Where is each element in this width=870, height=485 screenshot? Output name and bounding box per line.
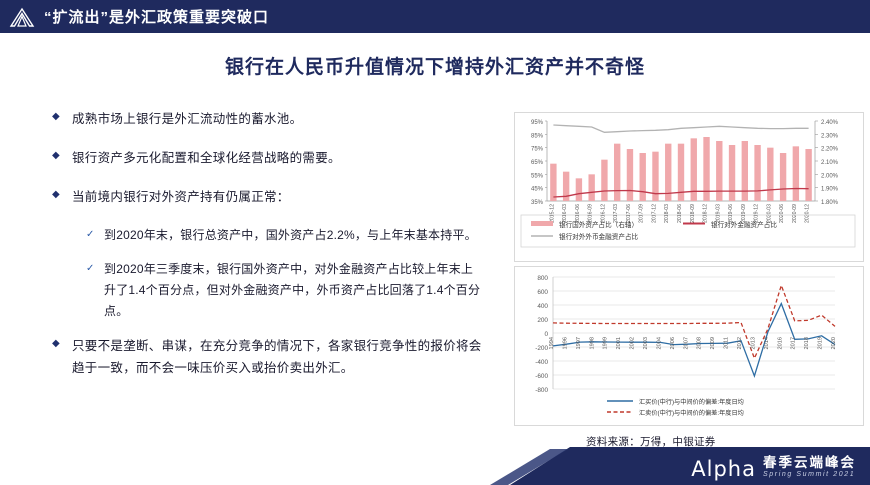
axis-label: -800 — [535, 387, 548, 394]
axis-label: 45% — [531, 187, 544, 193]
axis-label: 2018-09 — [690, 204, 696, 223]
bar — [588, 174, 594, 201]
axis-label: 600 — [537, 289, 548, 296]
axis-label: 2008 — [697, 337, 703, 349]
chart-2-canvas: -800-600-400-200020040060080019941996199… — [515, 267, 861, 423]
axis-label: 银行对外金融资产占比 — [711, 220, 777, 229]
axis-label: 2016-03 — [562, 204, 568, 223]
axis-label: 2009 — [710, 337, 716, 349]
legend-swatch — [531, 221, 553, 226]
header-bar: “扩流出”是外汇政策重要突破口 — [0, 0, 870, 33]
axis-label: 2.20% — [821, 147, 839, 153]
axis-label: 2018 — [804, 337, 810, 349]
axis-label: 2018-12 — [703, 204, 709, 223]
axis-label: 85% — [531, 133, 544, 139]
axis-label: 银行国外资产占比（右轴） — [559, 220, 638, 229]
bar — [729, 145, 735, 201]
axis-label: 65% — [531, 160, 544, 166]
axis-label: 2020-06 — [779, 204, 785, 223]
axis-label: 2016 — [777, 337, 783, 349]
axis-label: 2016-12 — [600, 204, 606, 223]
list-item: ◆ 银行资产多元化配置和全球化经营战略的需要。 — [52, 147, 482, 169]
axis-label: 0 — [544, 331, 548, 338]
list-item: ◆ 当前境内银行对外资产持有仍属正常： — [52, 186, 482, 208]
axis-label: 1996 — [562, 337, 568, 349]
triangle-mountain-icon — [0, 7, 44, 27]
axis-label: 2020-12 — [805, 204, 811, 223]
axis-label: 2013 — [750, 337, 756, 349]
alpha-wordmark: Alpha — [691, 459, 756, 480]
axis-label: 35% — [531, 200, 544, 206]
axis-label: 2019-03 — [715, 204, 721, 223]
check-bullet-icon: ✓ — [86, 259, 104, 278]
list-item: ✓ 到2020年末，银行总资产中，国外资产占2.2%，与上年末基本持平。 — [86, 225, 482, 246]
diamond-bullet-icon: ◆ — [52, 108, 72, 125]
axis-label: 2020-09 — [792, 204, 798, 223]
axis-label: 1.90% — [821, 187, 839, 193]
axis-label: 2017-06 — [626, 204, 632, 223]
bar — [576, 178, 582, 201]
axis-label: 2006 — [670, 337, 676, 349]
bar — [640, 153, 646, 201]
sub-bullet-list: ✓ 到2020年末，银行总资产中，国外资产占2.2%，与上年末基本持平。 ✓ 到… — [86, 225, 482, 322]
axis-label: 2015-12 — [549, 204, 555, 223]
axis-label: 汇买价(中行)与中间价的偏差:年度日均 — [639, 398, 744, 406]
bar — [627, 149, 633, 201]
bullet-text: 成熟市场上银行是外汇流动性的蓄水池。 — [72, 108, 302, 130]
axis-label: 2007 — [683, 337, 689, 349]
axis-label: 1997 — [576, 337, 582, 349]
bullet-list: ◆ 成熟市场上银行是外汇流动性的蓄水池。 ◆ 银行资产多元化配置和全球化经营战略… — [52, 108, 482, 396]
axis-label: 2016-06 — [575, 204, 581, 223]
axis-label: 2001 — [616, 337, 622, 349]
footer-band: Alpha 春季云端峰会 Spring Summit 2021 — [0, 447, 870, 485]
diamond-bullet-icon: ◆ — [52, 335, 72, 352]
axis-label: 2012 — [737, 337, 743, 349]
axis-label: 2014 — [764, 337, 770, 349]
axis-label: -400 — [535, 359, 548, 366]
bar — [742, 141, 748, 201]
axis-label: 2019-12 — [754, 204, 760, 223]
footer-logo: Alpha 春季云端峰会 Spring Summit 2021 — [691, 455, 856, 480]
bullet-text: 只要不是垄断、串谋，在充分竞争的情况下，各家银行竞争性的报价将会趋于一致，而不会… — [72, 335, 482, 379]
axis-label: 2017-12 — [651, 204, 657, 223]
axis-label: 200 — [537, 317, 548, 324]
axis-label: 2017 — [791, 337, 797, 349]
bar — [754, 145, 760, 201]
axis-label: 1998 — [589, 337, 595, 349]
footer-summit-subtitle: Spring Summit 2021 — [763, 470, 855, 480]
axis-label: 2011 — [724, 337, 730, 349]
axis-label: 400 — [537, 303, 548, 310]
bar — [601, 160, 607, 201]
axis-label: 95% — [531, 120, 544, 126]
chart-1-canvas: 35%45%55%65%75%85%95%1.80%1.90%2.00%2.10… — [515, 113, 861, 259]
axis-label: 2017-09 — [639, 204, 645, 223]
chart-bank-foreign-assets: 35%45%55%65%75%85%95%1.80%1.90%2.00%2.10… — [514, 112, 864, 262]
axis-label: 2.40% — [821, 120, 839, 126]
axis-label: 2017-03 — [613, 204, 619, 223]
bar — [767, 148, 773, 201]
axis-label: 汇卖价(中行)与中间价的偏差:年度日均 — [639, 409, 744, 417]
axis-label: 2.10% — [821, 160, 839, 166]
axis-label: 2003 — [643, 337, 649, 349]
bar — [550, 164, 556, 201]
bar — [793, 146, 799, 201]
sub-bullet-text: 到2020年末，银行总资产中，国外资产占2.2%，与上年末基本持平。 — [104, 225, 477, 246]
axis-label: 55% — [531, 173, 544, 179]
page-title: 银行在人民币升值情况下增持外汇资产并不奇怪 — [0, 52, 870, 79]
axis-label: 2020 — [831, 337, 837, 349]
axis-label: 2002 — [630, 337, 636, 349]
axis-label: 1.80% — [821, 200, 839, 206]
check-bullet-icon: ✓ — [86, 225, 104, 244]
axis-label: 2019 — [818, 337, 824, 349]
axis-label: 800 — [537, 275, 548, 282]
axis-label: 2004 — [656, 337, 662, 349]
diamond-bullet-icon: ◆ — [52, 147, 72, 164]
bar — [780, 153, 786, 201]
diamond-bullet-icon: ◆ — [52, 186, 72, 203]
axis-label: 2019-06 — [728, 204, 734, 223]
list-item: ◆ 成熟市场上银行是外汇流动性的蓄水池。 — [52, 108, 482, 130]
axis-label: 2.30% — [821, 133, 839, 139]
axis-label: 2018-06 — [677, 204, 683, 223]
axis-label: 2018-03 — [664, 204, 670, 223]
footer-summit-title: 春季云端峰会 — [763, 455, 856, 470]
axis-label: -600 — [535, 373, 548, 380]
bar — [665, 144, 671, 201]
axis-label: 2.00% — [821, 173, 839, 179]
axis-label: 银行对外外币金融资产占比 — [559, 232, 639, 241]
header-title: “扩流出”是外汇政策重要突破口 — [44, 6, 269, 27]
axis-label: 1999 — [603, 337, 609, 349]
axis-label: 75% — [531, 147, 544, 153]
bar — [716, 141, 722, 201]
list-item: ✓ 到2020年三季度末，银行国外资产中，对外金融资产占比较上年末上升了1.4个… — [86, 259, 482, 322]
bullet-text: 银行资产多元化配置和全球化经营战略的需要。 — [72, 147, 341, 169]
axis-label: 1994 — [549, 337, 555, 349]
list-item: ◆ 只要不是垄断、串谋，在充分竞争的情况下，各家银行竞争性的报价将会趋于一致，而… — [52, 335, 482, 379]
series-line — [553, 125, 808, 132]
chart-fx-spread: -800-600-400-200020040060080019941996199… — [514, 266, 864, 426]
axis-label: 2016-09 — [588, 204, 594, 223]
sub-bullet-text: 到2020年三季度末，银行国外资产中，对外金融资产占比较上年末上升了1.4个百分… — [104, 259, 482, 322]
axis-label: 2020-03 — [766, 204, 772, 223]
bullet-text: 当前境内银行对外资产持有仍属正常： — [72, 186, 290, 208]
axis-label: 2019-09 — [741, 204, 747, 223]
bar — [614, 144, 620, 201]
axis-label: -200 — [535, 345, 548, 352]
bar — [805, 149, 811, 201]
